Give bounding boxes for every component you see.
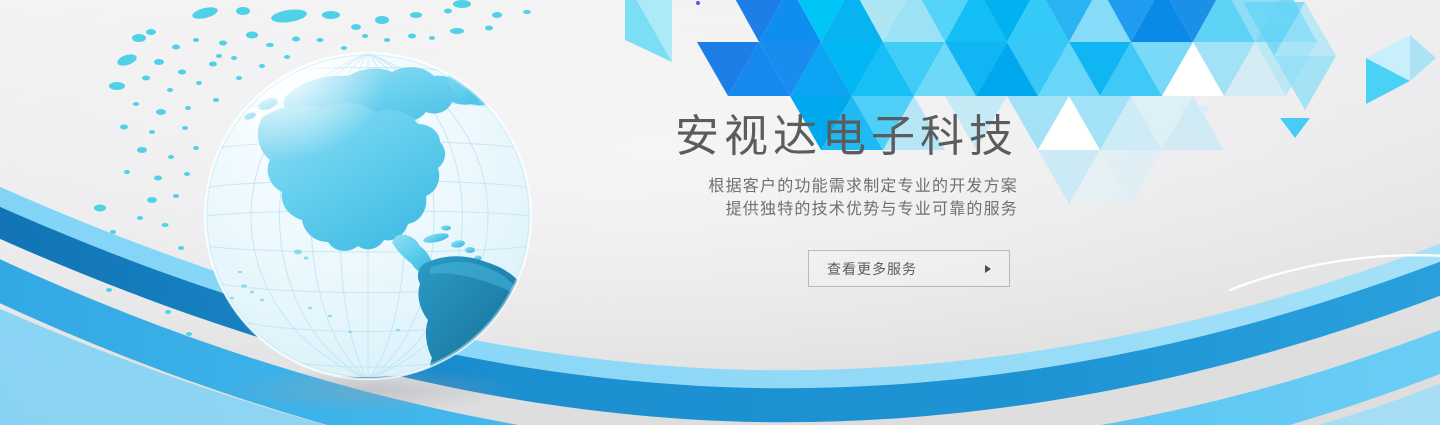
play-triangle-right-icon [985, 265, 991, 273]
subtitle-line-1: 根据客户的功能需求制定专业的开发方案 [0, 175, 1018, 198]
view-more-services-button[interactable]: 查看更多服务 [808, 250, 1010, 287]
view-more-services-label: 查看更多服务 [827, 262, 985, 276]
subtitle-line-2: 提供独特的技术优势与专业可靠的服务 [0, 198, 1018, 221]
hero-banner: 安视达电子科技 根据客户的功能需求制定专业的开发方案 提供独特的技术优势与专业可… [0, 0, 1440, 425]
hero-text-block: 安视达电子科技 根据客户的功能需求制定专业的开发方案 提供独特的技术优势与专业可… [0, 110, 1018, 221]
page-title: 安视达电子科技 [0, 110, 1018, 164]
